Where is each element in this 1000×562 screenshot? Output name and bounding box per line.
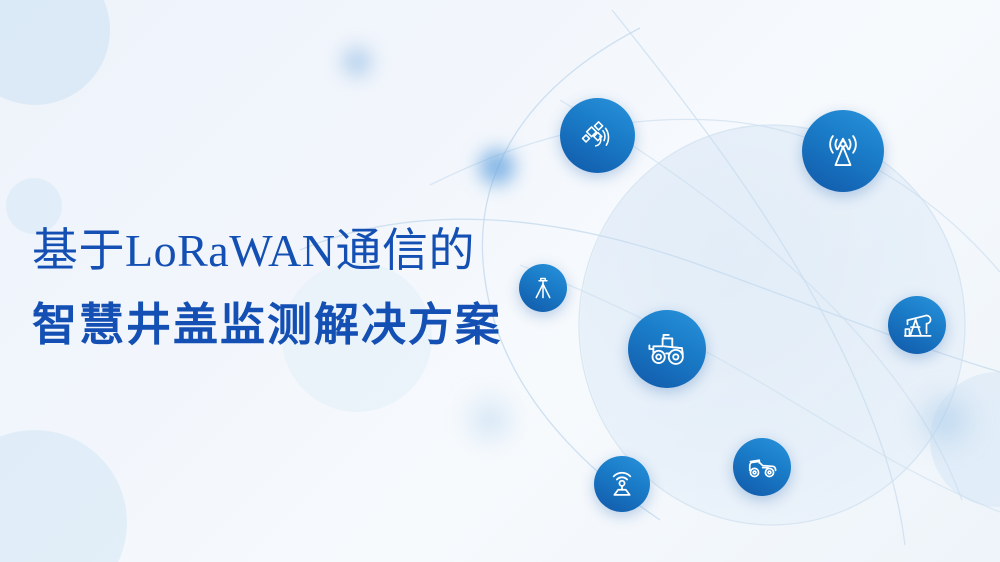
dot-bottom-right [922, 397, 968, 443]
left-lower-circle [0, 430, 127, 562]
radio-tower-icon [821, 129, 865, 173]
wireless-sensor-icon [606, 468, 638, 500]
dot-upper-center [342, 47, 372, 77]
right-bottom-circle [930, 372, 1000, 507]
node-utility-vehicle[interactable] [733, 438, 791, 496]
satellite-signal-icon [579, 117, 617, 155]
title-block: 基于LoRaWAN通信的 智慧井盖监测解决方案 [32, 228, 502, 347]
top-left-circle [0, 0, 110, 105]
oil-pumpjack-icon [900, 308, 934, 342]
tractor-icon [645, 327, 689, 371]
slide-canvas: 基于LoRaWAN通信的 智慧井盖监测解决方案 [0, 0, 1000, 562]
utility-vehicle-icon [745, 450, 779, 484]
dot-mid-left [479, 149, 515, 185]
node-wireless-sensor[interactable] [594, 456, 650, 512]
node-satellite-signal[interactable] [560, 98, 635, 173]
node-survey-tripod[interactable] [519, 264, 567, 312]
page-title-line-2: 智慧井盖监测解决方案 [32, 302, 502, 347]
dot-center-low [470, 400, 510, 440]
node-oil-pumpjack[interactable] [888, 296, 946, 354]
page-title-line-1: 基于LoRaWAN通信的 [32, 228, 502, 274]
node-radio-tower[interactable] [802, 110, 884, 192]
survey-tripod-icon [529, 274, 557, 302]
node-tractor[interactable] [628, 310, 706, 388]
